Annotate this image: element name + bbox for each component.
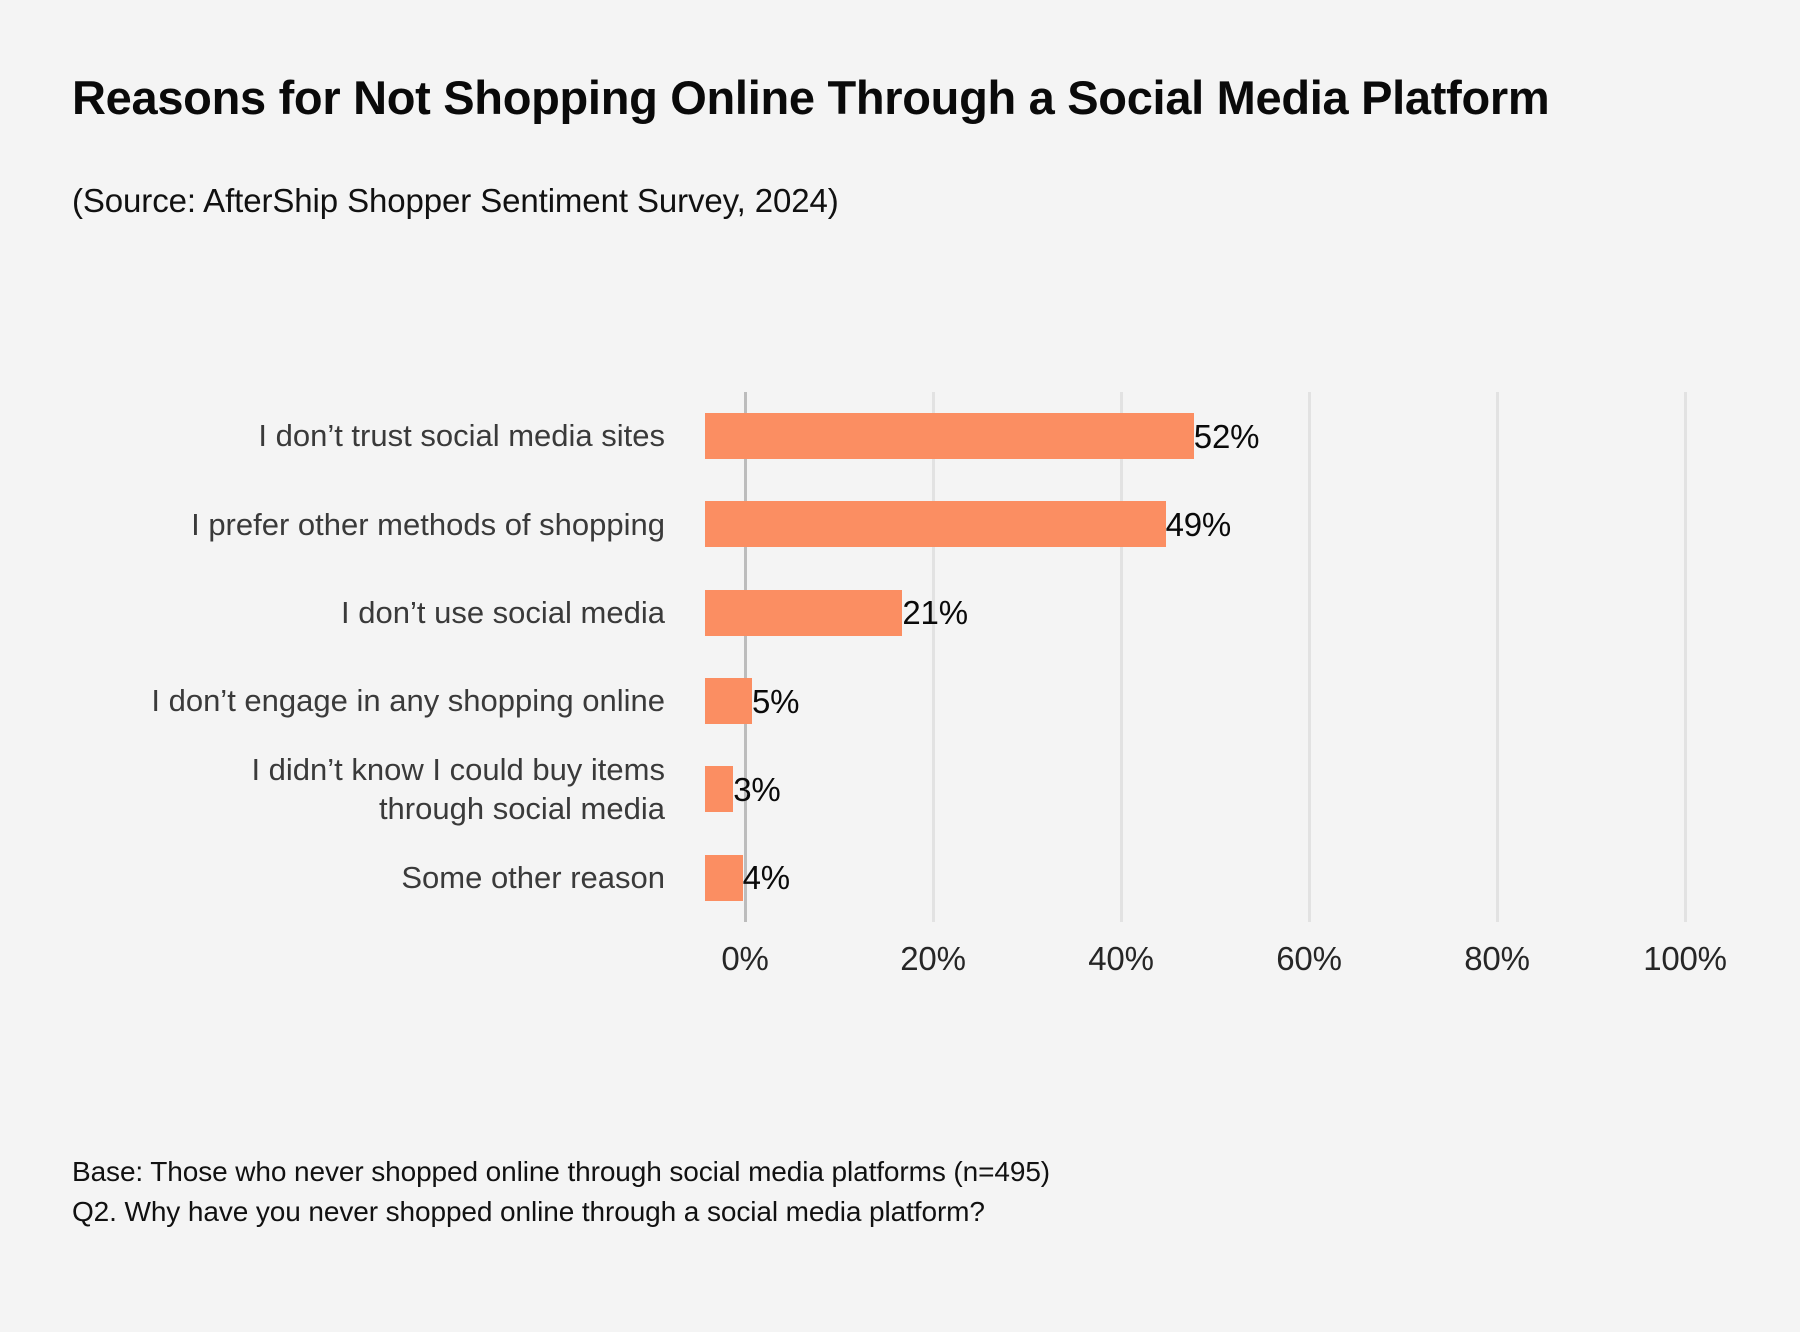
x-tick-label: 20% xyxy=(900,940,965,978)
category-label: I don’t engage in any shopping online xyxy=(0,681,705,721)
chart-page: Reasons for Not Shopping Online Through … xyxy=(0,0,1800,1332)
chart-header: Reasons for Not Shopping Online Through … xyxy=(72,62,1692,221)
x-tick-label: 40% xyxy=(1088,940,1153,978)
bar-container: 21% xyxy=(705,569,1800,657)
bar-container: 3% xyxy=(705,745,1800,833)
x-tick-label: 100% xyxy=(1643,940,1727,978)
category-label: I don’t trust social media sites xyxy=(0,416,705,456)
bar-value-label: 49% xyxy=(1166,508,1231,541)
bar-container: 49% xyxy=(705,480,1800,568)
bar-row: I prefer other methods of shopping49% xyxy=(0,480,1800,568)
bar[interactable] xyxy=(705,855,743,901)
chart-footnotes: Base: Those who never shopped online thr… xyxy=(72,1152,1712,1232)
bar[interactable] xyxy=(705,413,1194,459)
bar-rows: I don’t trust social media sites52%I pre… xyxy=(0,392,1800,922)
bar[interactable] xyxy=(705,590,902,636)
bar-container: 5% xyxy=(705,657,1800,745)
bar-row: Some other reason4% xyxy=(0,834,1800,922)
category-label: I don’t use social media xyxy=(0,593,705,633)
bar-value-label: 4% xyxy=(743,861,790,894)
chart-source-note: (Source: AfterShip Shopper Sentiment Sur… xyxy=(72,133,1692,221)
bar-row: I don’t engage in any shopping online5% xyxy=(0,657,1800,745)
footnote-base: Base: Those who never shopped online thr… xyxy=(72,1152,1712,1192)
x-tick-label: 60% xyxy=(1276,940,1341,978)
bar-container: 4% xyxy=(705,834,1800,922)
bar-value-label: 21% xyxy=(902,596,967,629)
category-label: I didn’t know I could buy items through … xyxy=(0,750,705,829)
x-tick-label: 80% xyxy=(1464,940,1529,978)
x-axis: 0%20%40%60%80%100% xyxy=(0,926,1800,996)
page-title: Reasons for Not Shopping Online Through … xyxy=(72,62,1672,133)
x-tick-label: 0% xyxy=(721,940,768,978)
bar-row: I didn’t know I could buy items through … xyxy=(0,745,1800,833)
bar-value-label: 5% xyxy=(752,685,799,718)
bar-row: I don’t use social media21% xyxy=(0,569,1800,657)
bar[interactable] xyxy=(705,501,1166,547)
category-label: Some other reason xyxy=(0,858,705,898)
bar-container: 52% xyxy=(705,392,1800,480)
bar-row: I don’t trust social media sites52% xyxy=(0,392,1800,480)
bar[interactable] xyxy=(705,766,733,812)
footnote-question: Q2. Why have you never shopped online th… xyxy=(72,1192,1712,1232)
chart-plot-area: I don’t trust social media sites52%I pre… xyxy=(0,392,1800,1012)
category-label: I prefer other methods of shopping xyxy=(0,505,705,545)
bar-value-label: 52% xyxy=(1194,420,1259,453)
bar[interactable] xyxy=(705,678,752,724)
bar-value-label: 3% xyxy=(733,773,780,806)
